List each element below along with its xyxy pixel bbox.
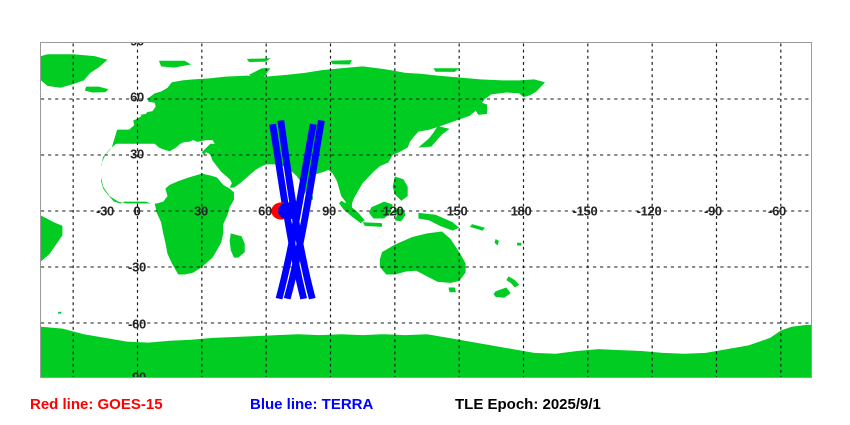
land-madagascar bbox=[230, 233, 245, 257]
landmass-layer bbox=[41, 54, 812, 378]
world-map-plot: -30 0 30 60 90 120 150 180 -150 -120 -90… bbox=[40, 42, 812, 378]
screenshot-root: -30 0 30 60 90 120 150 180 -150 -120 -90… bbox=[0, 0, 850, 425]
legend-blue-line-terra: Blue line: TERRA bbox=[250, 396, 373, 414]
lat-tick--60: -60 bbox=[128, 318, 146, 331]
land-java bbox=[363, 222, 382, 227]
map-canvas bbox=[41, 43, 812, 378]
lon-tick-120: 120 bbox=[383, 205, 404, 218]
lon-tick-150: 150 bbox=[447, 205, 468, 218]
lat-tick--90: -90 bbox=[128, 371, 146, 379]
land-svalbard bbox=[159, 61, 191, 68]
land-vanuatu bbox=[495, 239, 499, 246]
lon-tick--90: -90 bbox=[704, 205, 722, 218]
land-solomon-islands bbox=[470, 224, 485, 231]
land-australia bbox=[380, 232, 466, 283]
lon-tick-60: 60 bbox=[258, 205, 272, 218]
land-south-georgia bbox=[58, 312, 61, 314]
lon-tick-180: 180 bbox=[511, 205, 532, 218]
land-new-siberian-islands bbox=[433, 68, 459, 72]
lat-tick-30: 30 bbox=[130, 148, 144, 161]
lon-tick-30: 30 bbox=[194, 205, 208, 218]
land-eurasia bbox=[101, 66, 545, 274]
legend: Red line: GOES-15 Blue line: TERRA TLE E… bbox=[0, 396, 850, 420]
land-new-zealand-south bbox=[493, 288, 510, 298]
land-greenland bbox=[41, 54, 107, 88]
terra-marker bbox=[278, 202, 298, 219]
lon-tick--120: -120 bbox=[637, 205, 662, 218]
lon-tick--60: -60 bbox=[768, 205, 786, 218]
land-iceland bbox=[85, 87, 109, 93]
land-south-america bbox=[41, 190, 62, 315]
land-novaya-zemlya bbox=[247, 58, 271, 62]
land-tasmania bbox=[448, 288, 456, 293]
land-sumatra bbox=[339, 201, 365, 223]
land-antarctica bbox=[41, 325, 812, 378]
lat-tick-90: 90 bbox=[130, 42, 144, 48]
satellite-marker-layer bbox=[271, 202, 298, 219]
lat-tick-60: 60 bbox=[130, 91, 144, 104]
land-fiji bbox=[517, 243, 521, 246]
legend-tle-epoch: TLE Epoch: 2025/9/1 bbox=[455, 396, 601, 414]
land-new-zealand-north bbox=[506, 276, 519, 287]
lat-tick--30: -30 bbox=[128, 261, 146, 274]
lat-tick-0: 0 bbox=[134, 205, 141, 218]
legend-red-line-goes15: Red line: GOES-15 bbox=[30, 396, 163, 414]
lon-tick-90: 90 bbox=[322, 205, 336, 218]
lon-tick--150: -150 bbox=[573, 205, 598, 218]
land-severnaya-zemlya bbox=[331, 60, 352, 64]
lon-tick--30: -30 bbox=[96, 205, 114, 218]
